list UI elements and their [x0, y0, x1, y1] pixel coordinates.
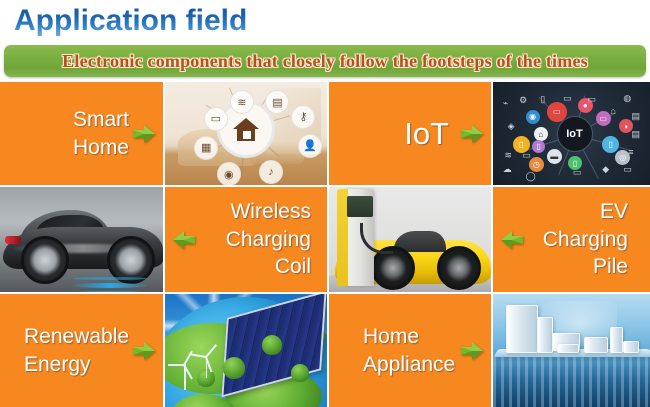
cell-renewable-energy-image	[165, 294, 327, 407]
cell-renewable-energy-label: Renewable Energy	[18, 323, 129, 379]
small-appliance-icon	[623, 341, 639, 353]
page-title-container: Application field	[14, 0, 247, 42]
cell-home-appliance-image	[493, 294, 650, 407]
cell-silver-car-image	[0, 187, 163, 292]
cell-iot-network-image: IoT ▭ ● ◉ ⌂ ▯ ▯ ◷ ▬ ▯ ▭ ▯ ◑ ◎ ⌁ ⚙ ▯ ▭ ▭ …	[493, 82, 650, 185]
smart-home-illustration: ▭ ≋ ▤ ⚷ 👤 ♪ ◉ ▦	[165, 82, 327, 185]
iot-flat-layers-icon: ≡	[628, 147, 633, 157]
iot-flat-drop-icon: ◆	[602, 164, 609, 175]
iot-center-label: IoT	[557, 116, 593, 152]
home-appliances-city-illustration	[493, 294, 650, 407]
iot-flat-shield-icon: ◈	[508, 121, 515, 132]
iot-flat-gear-icon: ⚙	[519, 95, 527, 106]
iot-node-eye-icon: ◉	[526, 110, 540, 124]
application-grid: Smart Home	[0, 82, 650, 403]
cell-renewable-energy[interactable]: Renewable Energy	[0, 294, 163, 407]
iot-flat-tv-icon: ▭	[588, 94, 597, 105]
sh-node-appliance-icon: ▭	[204, 107, 228, 131]
cell-ev-charging-pile-label: EV Charging Pile	[543, 198, 634, 282]
cell-iot-label: IoT	[404, 115, 455, 152]
yellow-car-charging-photo	[329, 187, 491, 292]
iot-flat-house-icon: ⌂	[610, 106, 615, 116]
application-field-slide: Application field Electronic components …	[0, 0, 650, 403]
arrow-right-icon	[131, 340, 157, 362]
arrow-left-icon	[171, 229, 197, 251]
cell-ev-charging-pile[interactable]: EV Charging Pile	[493, 187, 650, 292]
iot-flat-search-icon: ◯	[526, 171, 536, 182]
cell-smart-home-label: Smart Home	[73, 106, 135, 162]
arrow-right-icon	[459, 340, 485, 362]
iot-node-gauge-icon: ◑	[619, 119, 633, 133]
iot-node-printer-icon: ▭	[596, 111, 611, 126]
iot-flat-phone-icon: ▯	[540, 94, 545, 105]
microwave-icon	[584, 337, 608, 353]
iot-flat-wifi-icon: ≋	[504, 150, 512, 161]
cell-smart-home-image: ▭ ≋ ▤ ⚷ 👤 ♪ ◉ ▦	[165, 82, 327, 185]
cooktop-icon	[557, 344, 579, 353]
iot-flat-clipboard-icon: ▤	[632, 129, 641, 140]
iot-flat-bulb-icon: ◍	[623, 93, 631, 104]
refrigerator-icon	[506, 305, 538, 353]
arrow-right-icon	[459, 123, 485, 145]
cell-wireless-charging-coil-label: Wireless Charging Coil	[226, 198, 317, 282]
iot-node-card-icon: ▬	[547, 149, 562, 164]
cell-iot[interactable]: IoT	[329, 82, 491, 185]
iot-flat-car2-icon: ▭	[623, 164, 632, 175]
cell-home-appliance[interactable]: Home Appliance	[329, 294, 491, 407]
iot-network-illustration: IoT ▭ ● ◉ ⌂ ▯ ▯ ◷ ▬ ▯ ▭ ▯ ◑ ◎ ⌁ ⚙ ▯ ▭ ▭ …	[493, 82, 650, 185]
iot-flat-camera-icon: ▭	[573, 167, 582, 178]
cell-home-appliance-label: Home Appliance	[357, 323, 455, 379]
silver-sports-car-photo	[0, 187, 163, 292]
cell-smart-home[interactable]: Smart Home	[0, 82, 163, 185]
iot-flat-cloud-icon: ☁	[503, 164, 512, 175]
iot-node-plug-icon: ▯	[532, 140, 545, 153]
iot-flat-plug-icon: ⌁	[503, 98, 508, 109]
iot-node-lock-icon: ⌂	[534, 127, 548, 141]
arrow-right-icon	[131, 123, 157, 145]
purifier-icon	[610, 327, 623, 353]
iot-flat-window-icon: ▭	[522, 150, 531, 161]
subtitle-banner: Electronic components that closely follo…	[4, 45, 646, 77]
cell-ev-charging-image	[329, 187, 491, 292]
iot-flat-car-icon: ▭	[563, 93, 572, 104]
sh-node-grid-icon: ▦	[194, 136, 218, 160]
page-title: Application field	[14, 4, 247, 38]
solar-earth-illustration	[165, 294, 327, 407]
wireless-charging-waves	[72, 283, 148, 288]
water-heater-icon	[537, 317, 553, 353]
iot-node-tablet-icon: ▯	[602, 136, 619, 153]
cell-wireless-charging-coil[interactable]: Wireless Charging Coil	[165, 187, 327, 292]
sh-node-key-icon: ⚷	[291, 105, 315, 129]
sh-node-people-icon: 👤	[298, 134, 322, 158]
sh-node-camera-icon: ◉	[217, 162, 241, 185]
subtitle-banner-text: Electronic components that closely follo…	[62, 51, 588, 72]
iot-flat-radio-icon: ▤	[632, 111, 641, 122]
sh-node-wifi-icon: ≋	[230, 90, 254, 114]
arrow-left-icon	[499, 229, 525, 251]
